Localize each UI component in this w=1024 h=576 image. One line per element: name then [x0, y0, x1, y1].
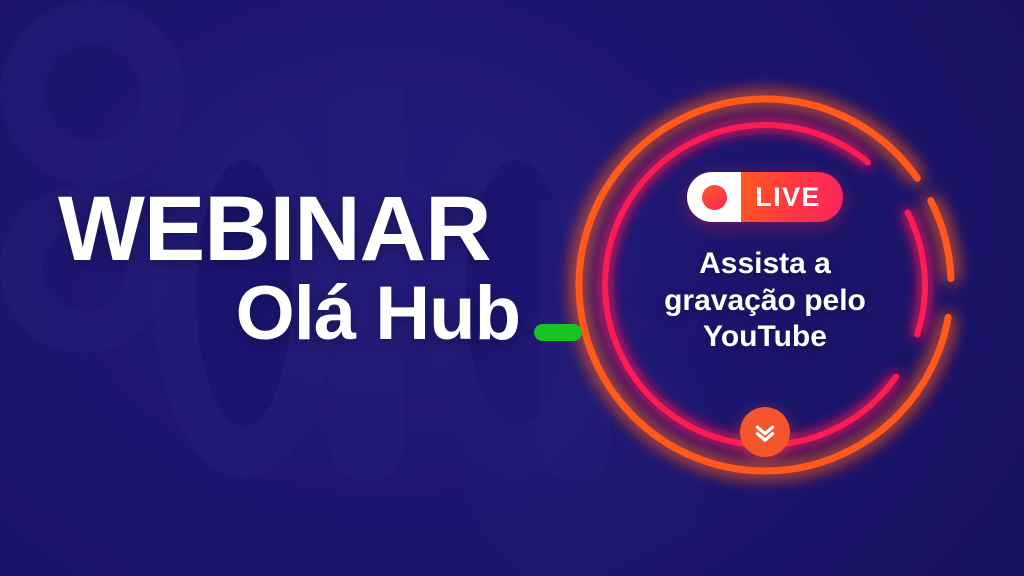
subtitle-row: Olá Hub [58, 276, 618, 352]
live-badge-label: LIVE [741, 172, 843, 222]
cursor-dash-accent [534, 324, 582, 341]
cta-line-2: gravação pelo [664, 283, 866, 320]
page-subtitle: Olá Hub [236, 276, 520, 352]
recording-dot-icon [702, 185, 727, 210]
circle-content: LIVE Assista a gravação pelo YouTube [640, 172, 890, 356]
live-dot-zone [687, 172, 741, 222]
background-ring-left [0, 0, 185, 185]
cta-line-3: YouTube [664, 319, 866, 356]
live-badge[interactable]: LIVE [687, 172, 843, 222]
webinar-banner: WEBINAR Olá Hub [0, 0, 1024, 576]
double-chevron-down-icon [752, 419, 778, 445]
cta-line-1: Assista a [664, 246, 866, 283]
page-title: WEBINAR [58, 186, 618, 272]
headline-block: WEBINAR Olá Hub [58, 186, 618, 352]
scroll-down-button[interactable] [740, 407, 790, 457]
call-to-action-text: Assista a gravação pelo YouTube [664, 246, 866, 356]
